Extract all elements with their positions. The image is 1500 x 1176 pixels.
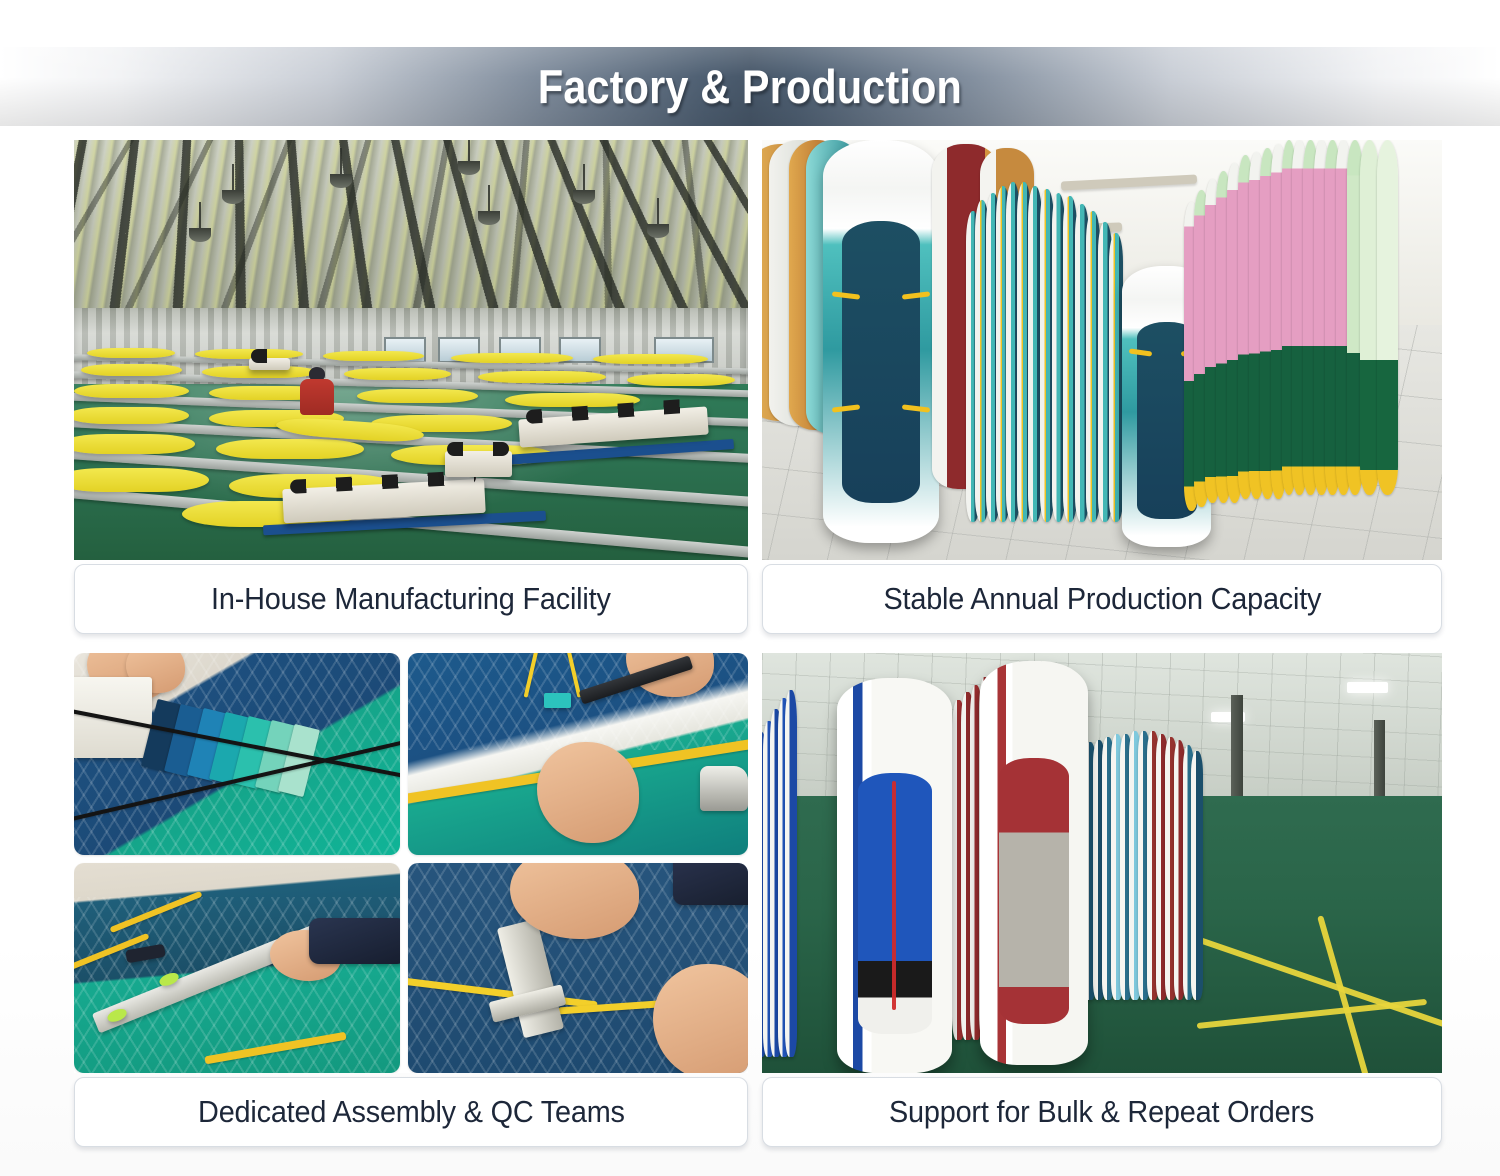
yellow-board — [74, 384, 189, 398]
board-deck-pad — [999, 758, 1069, 1024]
caption-in-house-manufacturing: In-House Manufacturing Facility — [74, 564, 748, 634]
control-box — [249, 358, 289, 370]
sleeve — [309, 918, 400, 964]
hand — [653, 964, 748, 1073]
photo-in-house-manufacturing — [74, 140, 748, 560]
ceiling-lamp — [189, 228, 211, 242]
yellow-board — [344, 368, 452, 380]
caption-bulk-repeat-orders: Support for Bulk & Repeat Orders — [762, 1077, 1442, 1147]
yellow-board — [216, 439, 364, 459]
feature-card-annual-production-capacity[interactable]: Stable Annual Production Capacity — [762, 140, 1442, 637]
yellow-board — [74, 468, 209, 492]
yellow-board — [593, 354, 708, 364]
page-root: Factory & Production — [0, 0, 1500, 1176]
qc-photo-level-check — [74, 863, 400, 1073]
qc-photo-color-matching — [74, 653, 400, 855]
board-deck-pad — [842, 221, 921, 503]
yellow-board — [451, 353, 572, 363]
d-ring — [544, 693, 571, 707]
caption-assembly-qc-teams: Dedicated Assembly & QC Teams — [74, 1077, 748, 1147]
shoe — [700, 766, 748, 810]
yellow-board — [74, 407, 189, 424]
yellow-board — [627, 374, 735, 386]
photo-assembly-qc-teams — [74, 653, 748, 1073]
yellow-board — [74, 434, 195, 454]
sleeve — [673, 863, 748, 905]
control-box — [445, 451, 512, 477]
caption-text: Stable Annual Production Capacity — [883, 581, 1321, 617]
photo-bulk-repeat-orders — [762, 653, 1442, 1073]
board-stack-blue — [762, 678, 905, 1064]
yellow-board — [323, 351, 424, 361]
featured-board-teal — [823, 140, 939, 543]
ceiling-lamp — [330, 174, 352, 188]
caption-text: Dedicated Assembly & QC Teams — [198, 1094, 625, 1130]
featured-board-red — [980, 661, 1089, 1064]
ceiling-lamp — [458, 161, 480, 175]
ceiling-lamp — [647, 224, 669, 238]
page-title: Factory & Production — [538, 59, 962, 114]
feature-card-bulk-repeat-orders[interactable]: Support for Bulk & Repeat Orders — [762, 653, 1442, 1150]
yellow-board — [357, 389, 478, 403]
photo-annual-production-capacity — [762, 140, 1442, 560]
factory-worker-figure — [300, 367, 334, 417]
yellow-board — [81, 364, 182, 376]
board-stack-pink-green — [1184, 140, 1442, 526]
yellow-board — [478, 371, 606, 383]
caption-text: In-House Manufacturing Facility — [211, 581, 611, 617]
hand — [537, 742, 639, 843]
feature-card-assembly-qc-teams[interactable]: Dedicated Assembly & QC Teams — [74, 653, 748, 1150]
ceiling-light — [1347, 682, 1388, 693]
caption-text: Support for Bulk & Repeat Orders — [889, 1094, 1314, 1130]
feature-card-in-house-manufacturing[interactable]: In-House Manufacturing Facility — [74, 140, 748, 637]
qc-photo-bungee-fitting — [408, 653, 748, 855]
section-header-banner: Factory & Production — [0, 47, 1500, 126]
feature-card-grid: In-House Manufacturing Facility — [74, 140, 1442, 1150]
yellow-board — [87, 348, 175, 358]
caption-annual-production-capacity: Stable Annual Production Capacity — [762, 564, 1442, 634]
qc-photo-caliper-measure — [408, 863, 748, 1073]
